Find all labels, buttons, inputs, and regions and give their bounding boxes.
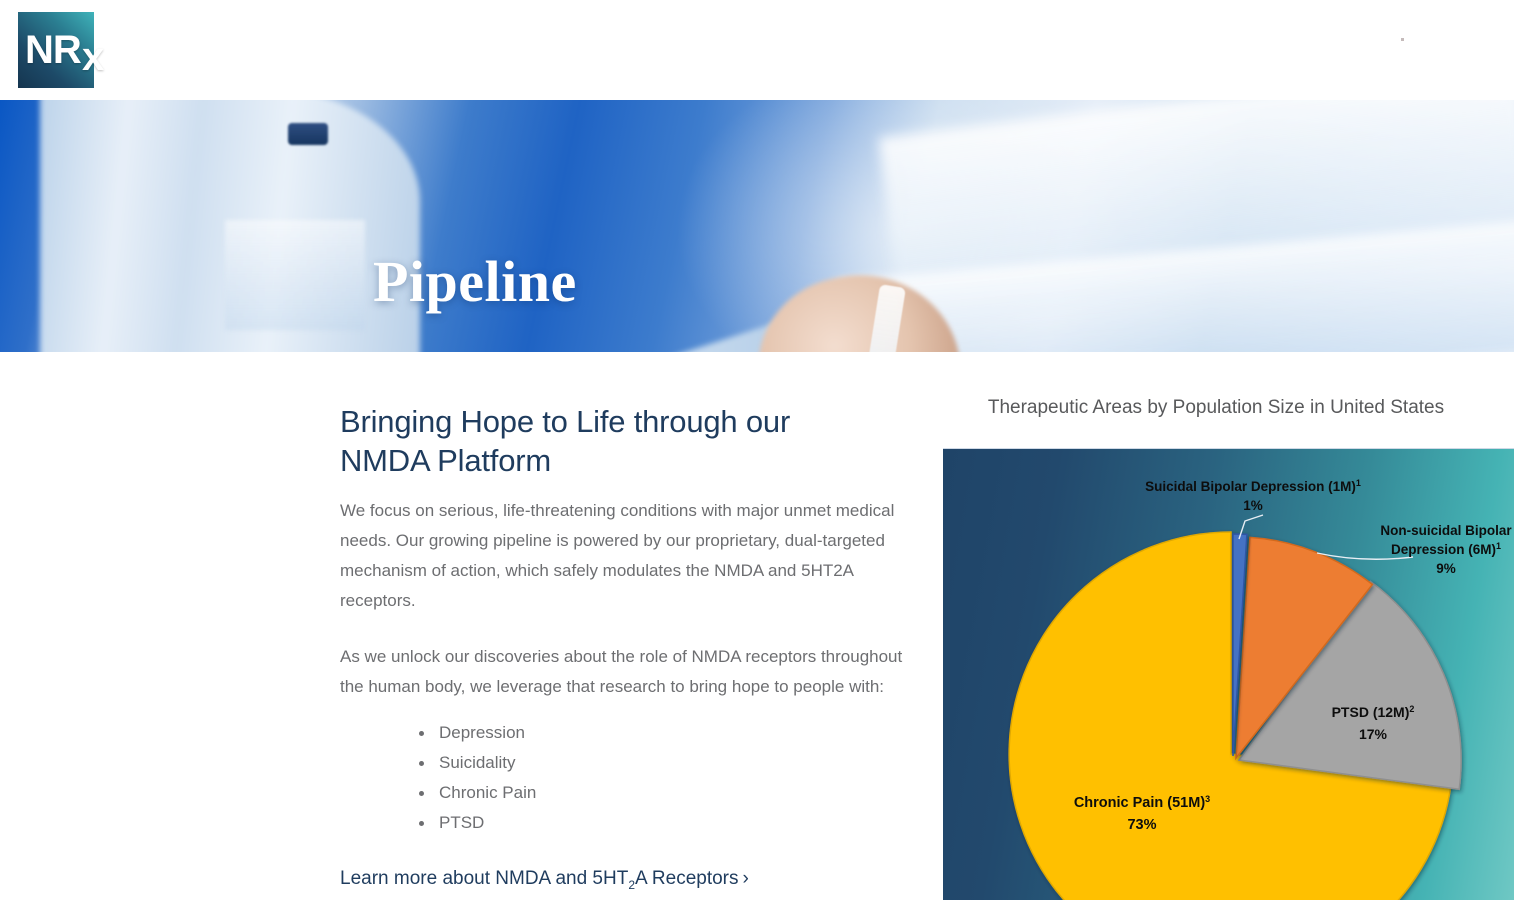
pie-chart-svg: Suicidal Bipolar Depression (1M)1 1% Non…	[943, 449, 1514, 900]
pie-label-chronic-pain-name: Chronic Pain (51M)3	[1074, 794, 1210, 811]
list-item: Chronic Pain	[415, 778, 920, 808]
chart-title: Therapeutic Areas by Population Size in …	[951, 396, 1481, 420]
pie-label-chronic-pain-percent: 73%	[1127, 817, 1156, 833]
pie-label-nonsuicidal-bipolar-line1: Non-suicidal Bipolar	[1380, 523, 1512, 538]
list-item: Depression	[415, 718, 920, 748]
learn-more-suffix: A Receptors	[635, 868, 739, 889]
learn-more-subscript: 2	[628, 878, 635, 892]
intro-paragraph-1: We focus on serious, life-threatening co…	[340, 496, 915, 616]
pie-label-nonsuicidal-bipolar-percent: 9%	[1436, 561, 1456, 576]
list-item: Suicidality	[415, 748, 920, 778]
pie-label-suicidal-bipolar: Suicidal Bipolar Depression (1M)1 1%	[1145, 478, 1361, 513]
pie-label-nonsuicidal-bipolar: Non-suicidal Bipolar Depression (6M)1 9%	[1380, 523, 1512, 576]
brand-logo[interactable]: NR x	[18, 12, 102, 88]
intro-column: Bringing Hope to Life through our NMDA P…	[340, 402, 920, 898]
pie-label-suicidal-bipolar-percent: 1%	[1243, 498, 1263, 513]
hero-banner: Pipeline	[0, 100, 1514, 352]
pie-label-suicidal-bipolar-name: Suicidal Bipolar Depression (1M)1	[1145, 478, 1361, 494]
learn-more-prefix: Learn more about NMDA and 5HT	[340, 868, 628, 889]
hero-id-badge	[288, 123, 328, 145]
learn-more-link[interactable]: Learn more about NMDA and 5HT2A Receptor…	[340, 866, 749, 898]
hero-coat-pocket	[225, 220, 365, 330]
main-content: Bringing Hope to Life through our NMDA P…	[0, 352, 1514, 900]
logo-x-mark: x	[82, 35, 104, 80]
condition-list: Depression Suicidality Chronic Pain PTSD	[340, 718, 920, 838]
site-header: NR x	[0, 0, 1514, 100]
header-artifact-dot	[1401, 38, 1404, 41]
pie-label-ptsd-percent: 17%	[1359, 726, 1388, 742]
pie-label-ptsd-name: PTSD (12M)2	[1332, 704, 1415, 720]
chevron-right-icon: ›	[743, 868, 749, 889]
pie-chart-panel: Suicidal Bipolar Depression (1M)1 1% Non…	[943, 448, 1514, 900]
list-item: PTSD	[415, 808, 920, 838]
section-heading: Bringing Hope to Life through our NMDA P…	[340, 402, 880, 480]
page-title: Pipeline	[373, 248, 577, 315]
pie-label-nonsuicidal-bipolar-line2: Depression (6M)1	[1391, 541, 1501, 557]
intro-paragraph-2: As we unlock our discoveries about the r…	[340, 642, 915, 702]
chart-column: Therapeutic Areas by Population Size in …	[943, 396, 1514, 420]
